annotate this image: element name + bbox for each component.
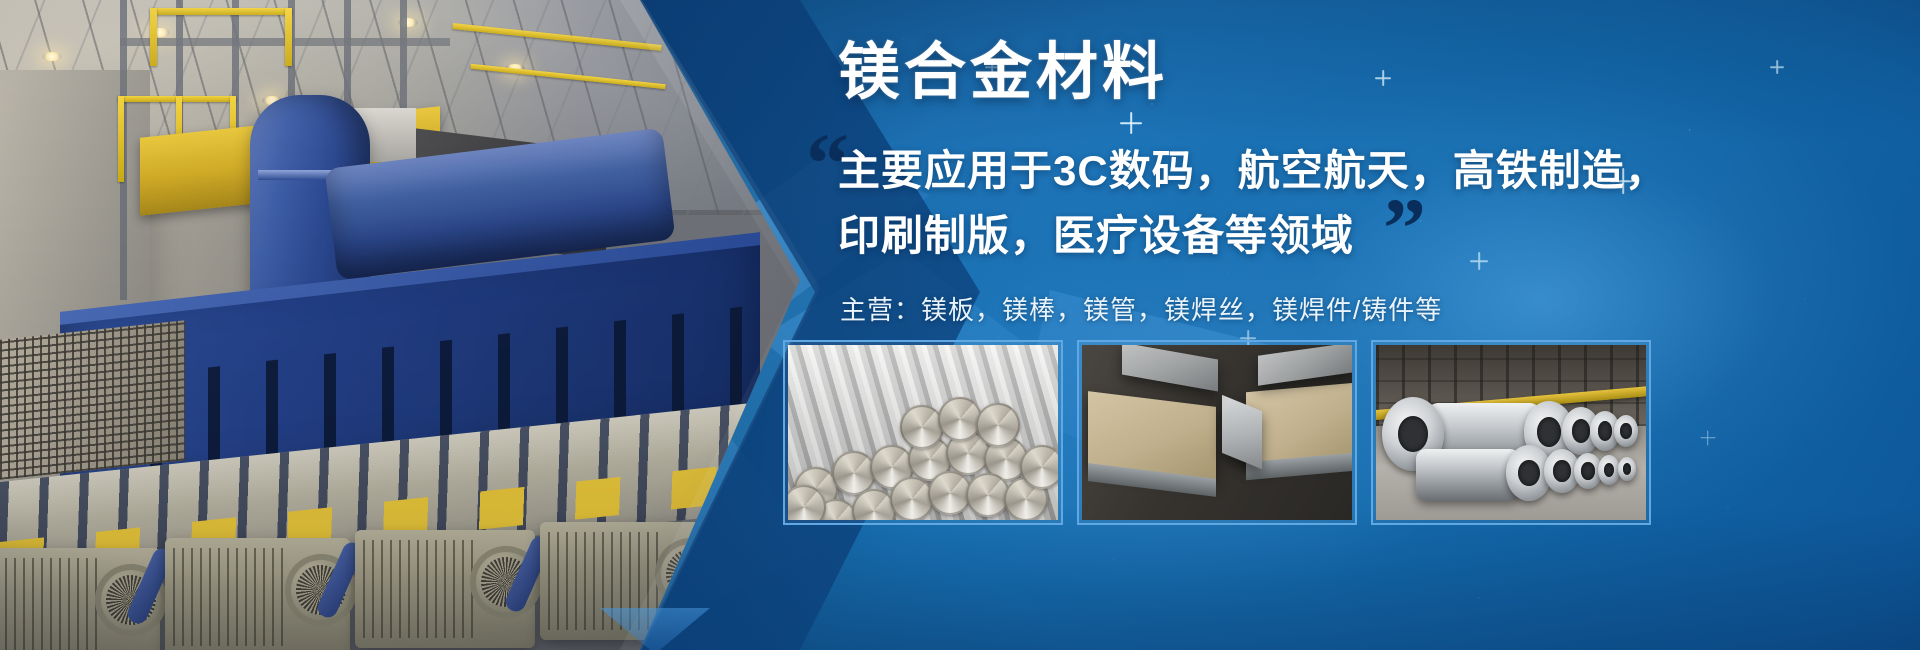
- product-banner: 镁合金材料 “ 主要应用于3C数码，航空航天，高铁制造， 印刷制版，医疗设备等领…: [0, 0, 1920, 650]
- banner-title: 镁合金材料: [838, 42, 1168, 104]
- magnesium-bars-thumbnail[interactable]: [783, 340, 1063, 525]
- banner-subtitle-line-2: 印刷制版，医疗设备等领域: [838, 215, 1354, 257]
- banner-subtitle-line-1: 主要应用于3C数码，航空航天，高铁制造，: [838, 150, 1668, 192]
- quote-close-icon: ”: [1383, 185, 1426, 271]
- magnesium-coils-thumbnail[interactable]: [1371, 340, 1651, 525]
- banner-tagline: 主营：镁板，镁棒，镁管，镁焊丝，镁焊件/铸件等: [840, 290, 1442, 327]
- banner-content: 镁合金材料 “ 主要应用于3C数码，航空航天，高铁制造， 印刷制版，医疗设备等领…: [838, 0, 1920, 650]
- product-thumbnail-list: [783, 340, 1651, 525]
- magnesium-plates-thumbnail[interactable]: [1077, 340, 1357, 525]
- factory-production-line-photo: [0, 0, 800, 650]
